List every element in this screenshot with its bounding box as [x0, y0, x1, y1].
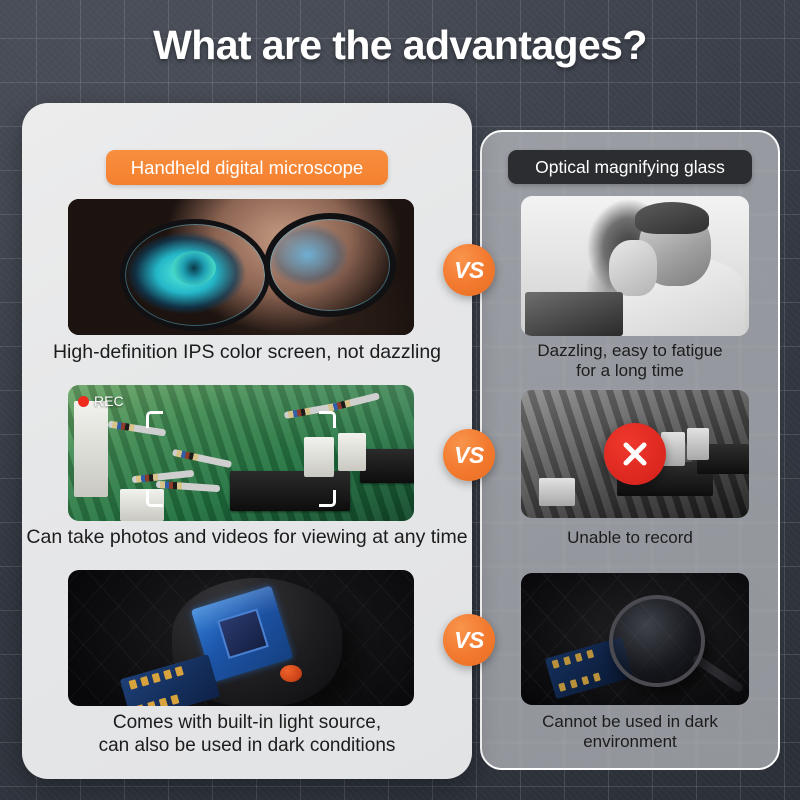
vs-badge-3: VS	[443, 614, 495, 666]
rec-indicator: REC	[78, 393, 124, 409]
media-card-right-1	[521, 196, 749, 336]
focus-frame-overlay	[146, 411, 336, 507]
glasses-lens-right	[264, 213, 396, 317]
eye-iris	[172, 251, 216, 285]
page-title: What are the advantages?	[0, 22, 800, 69]
focus-corner-top-right	[319, 411, 336, 428]
rec-label: REC	[94, 393, 124, 409]
vs-badge-1: VS	[443, 244, 495, 296]
focus-corner-top-left	[146, 411, 163, 428]
small-pcb-module	[120, 654, 221, 706]
workbench-equipment	[525, 292, 623, 336]
grayscale-circuit-board-photo	[521, 390, 749, 518]
column-header-left: Handheld digital microscope	[106, 150, 388, 185]
caption-left-3: Comes with built-in light source, can al…	[22, 712, 472, 758]
eye-glasses-blue-screen-photo	[68, 199, 414, 335]
media-card-right-2	[521, 390, 749, 518]
close-icon	[620, 439, 650, 469]
focus-corner-bottom-left	[146, 490, 163, 507]
infographic-canvas: What are the advantages? Handheld digita…	[0, 0, 800, 800]
green-circuit-board-photo: REC	[68, 385, 414, 521]
caption-left-1: High-definition IPS color screen, not da…	[22, 341, 472, 364]
person-hand	[609, 240, 657, 296]
vs-badge-2: VS	[443, 429, 495, 481]
focus-corner-bottom-right	[319, 490, 336, 507]
media-card-left-2: REC	[68, 385, 414, 521]
caption-left-2: Can take photos and videos for viewing a…	[22, 526, 472, 549]
column-header-right: Optical magnifying glass	[508, 150, 752, 184]
caption-right-1: Dazzling, easy to fatigue for a long tim…	[482, 341, 778, 382]
digital-microscope-device-photo	[68, 570, 414, 706]
tired-technician-grayscale-photo	[521, 196, 749, 336]
magnifier-lens	[609, 595, 705, 687]
media-card-right-3	[521, 573, 749, 705]
caption-right-3: Cannot be used in dark environment	[482, 712, 778, 753]
media-card-left-3	[68, 570, 414, 706]
red-x-badge	[604, 423, 666, 485]
media-card-left-1	[68, 199, 414, 335]
caption-right-2: Unable to record	[482, 528, 778, 548]
person-hair	[635, 202, 709, 234]
chip-die-on-screen	[217, 608, 269, 659]
magnifying-glass-dark-photo	[521, 573, 749, 705]
microscope-orange-button	[280, 665, 302, 682]
rec-dot-icon	[78, 396, 89, 407]
